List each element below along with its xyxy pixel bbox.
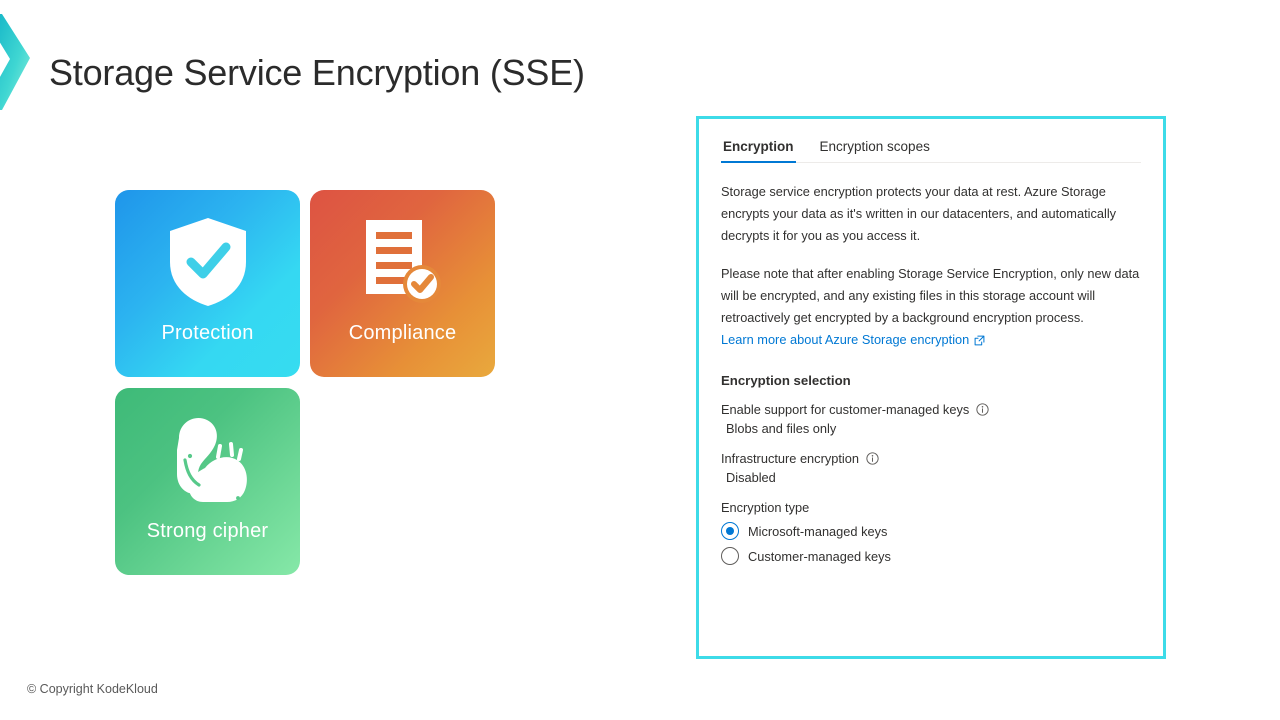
page-title: Storage Service Encryption (SSE) (49, 52, 585, 94)
panel-tab-bar: Encryption Encryption scopes (721, 137, 1141, 163)
tab-encryption-scopes[interactable]: Encryption scopes (818, 137, 932, 162)
learn-more-label: Learn more about Azure Storage encryptio… (721, 329, 969, 351)
radio-label: Customer-managed keys (748, 549, 891, 564)
card-protection[interactable]: Protection (115, 190, 300, 377)
field-label: Encryption type (721, 500, 1141, 515)
field-label-text: Enable support for customer-managed keys (721, 402, 969, 417)
radio-label: Microsoft-managed keys (748, 524, 887, 539)
info-circle-icon[interactable] (866, 452, 879, 465)
field-value: Disabled (721, 470, 1141, 485)
field-infrastructure-encryption: Infrastructure encryption Disabled (721, 451, 1141, 485)
card-label: Strong cipher (115, 520, 300, 543)
radio-customer-managed-keys[interactable]: Customer-managed keys (721, 547, 1141, 565)
document-check-icon (360, 212, 446, 312)
learn-more-link[interactable]: Learn more about Azure Storage encryptio… (721, 329, 985, 351)
azure-encryption-panel: Encryption Encryption scopes Storage ser… (696, 116, 1166, 659)
shield-check-icon (166, 212, 250, 312)
field-label: Infrastructure encryption (721, 451, 1141, 466)
field-label-text: Encryption type (721, 500, 809, 515)
field-label: Enable support for customer-managed keys (721, 402, 1141, 417)
field-encryption-type: Encryption type Microsoft-managed keys C… (721, 500, 1141, 565)
info-circle-icon[interactable] (976, 403, 989, 416)
footer-copyright: © Copyright KodeKloud (27, 682, 158, 696)
field-customer-managed-keys: Enable support for customer-managed keys… (721, 402, 1141, 436)
feature-card-grid: Protection Compliance (115, 190, 495, 576)
radio-microsoft-managed-keys[interactable]: Microsoft-managed keys (721, 522, 1141, 540)
external-link-icon (974, 335, 985, 346)
tab-encryption[interactable]: Encryption (721, 137, 796, 162)
flexed-biceps-icon (161, 410, 255, 510)
card-label: Protection (115, 322, 300, 345)
field-label-text: Infrastructure encryption (721, 451, 859, 466)
radio-mark-unselected[interactable] (721, 547, 739, 565)
radio-mark-selected[interactable] (721, 522, 739, 540)
card-compliance[interactable]: Compliance (310, 190, 495, 377)
card-strong-cipher[interactable]: Strong cipher (115, 388, 300, 575)
encryption-description-paragraph: Storage service encryption protects your… (721, 181, 1141, 247)
field-value: Blobs and files only (721, 421, 1141, 436)
encryption-selection-heading: Encryption selection (721, 373, 1141, 388)
card-label: Compliance (310, 322, 495, 345)
encryption-note-paragraph: Please note that after enabling Storage … (721, 263, 1141, 329)
brand-chevron-icon (0, 14, 42, 110)
